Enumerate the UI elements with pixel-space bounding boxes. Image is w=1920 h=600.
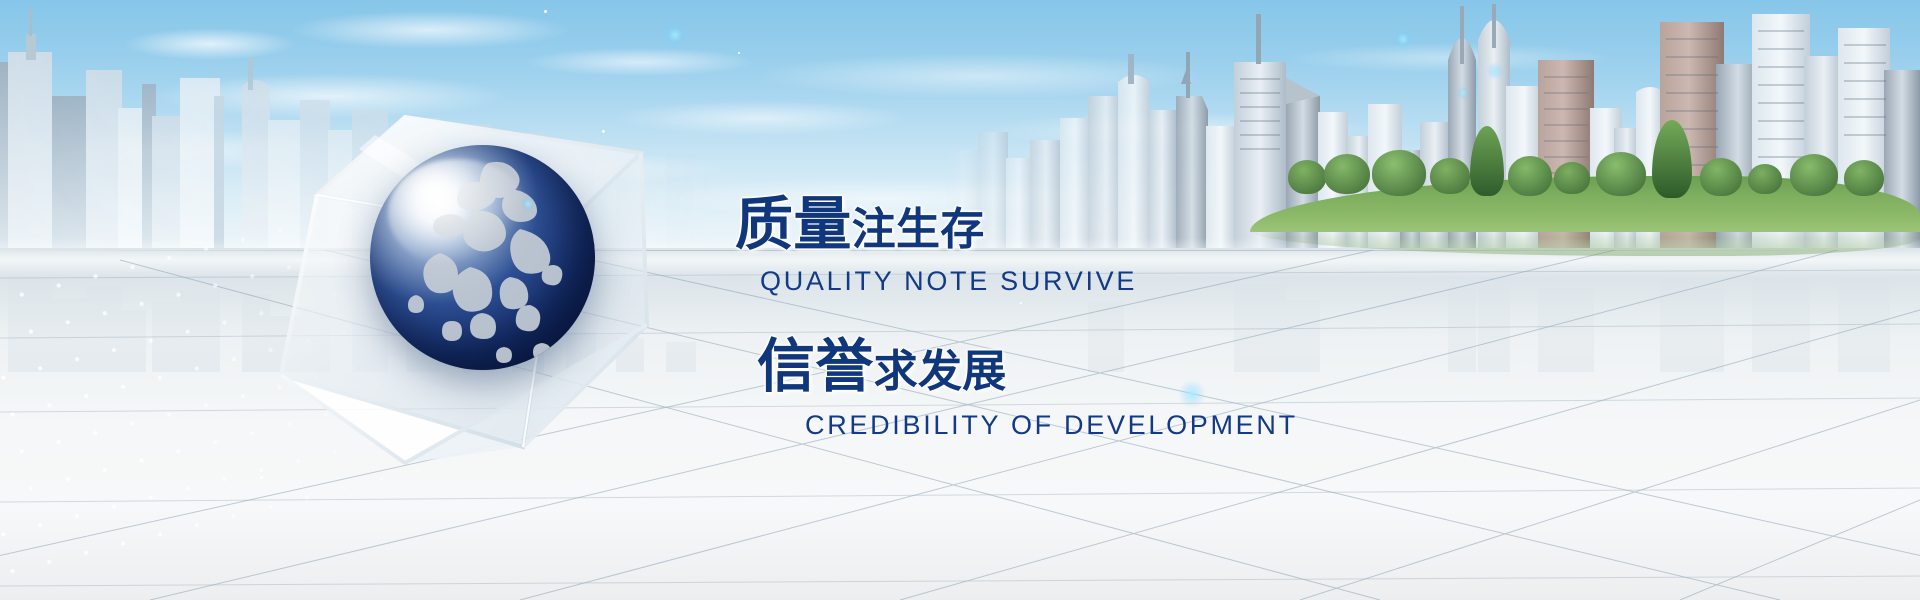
globe-highlight [388, 159, 528, 267]
headline-cn-1-rest: 注生存 [852, 205, 985, 254]
banner-root: 质量注生存 QUALITY NOTE SURVIVE 信誉求发展 CREDIBI… [0, 0, 1920, 600]
tree [1700, 158, 1742, 196]
tree [1508, 156, 1552, 196]
tree [1748, 164, 1782, 194]
tree [1430, 158, 1470, 194]
tree [1844, 160, 1884, 196]
headline-cn-1-emphasis: 质量 [735, 192, 852, 257]
tree [1596, 152, 1646, 196]
headline-cn-2-emphasis: 信誉 [757, 334, 874, 399]
tree [1288, 160, 1326, 194]
tree [1324, 154, 1370, 194]
headline-cn-1: 质量注生存 [735, 196, 985, 254]
subtitle-en-2: CREDIBILITY OF DEVELOPMENT [805, 410, 1298, 441]
tree [1790, 154, 1838, 196]
headline-cn-2: 信誉求发展 [757, 338, 1007, 396]
tree [1372, 150, 1426, 196]
tree [1554, 162, 1590, 194]
headline-cn-2-rest: 求发展 [874, 347, 1007, 396]
subtitle-en-1: QUALITY NOTE SURVIVE [760, 266, 1137, 297]
blue-earth-globe [370, 145, 595, 370]
